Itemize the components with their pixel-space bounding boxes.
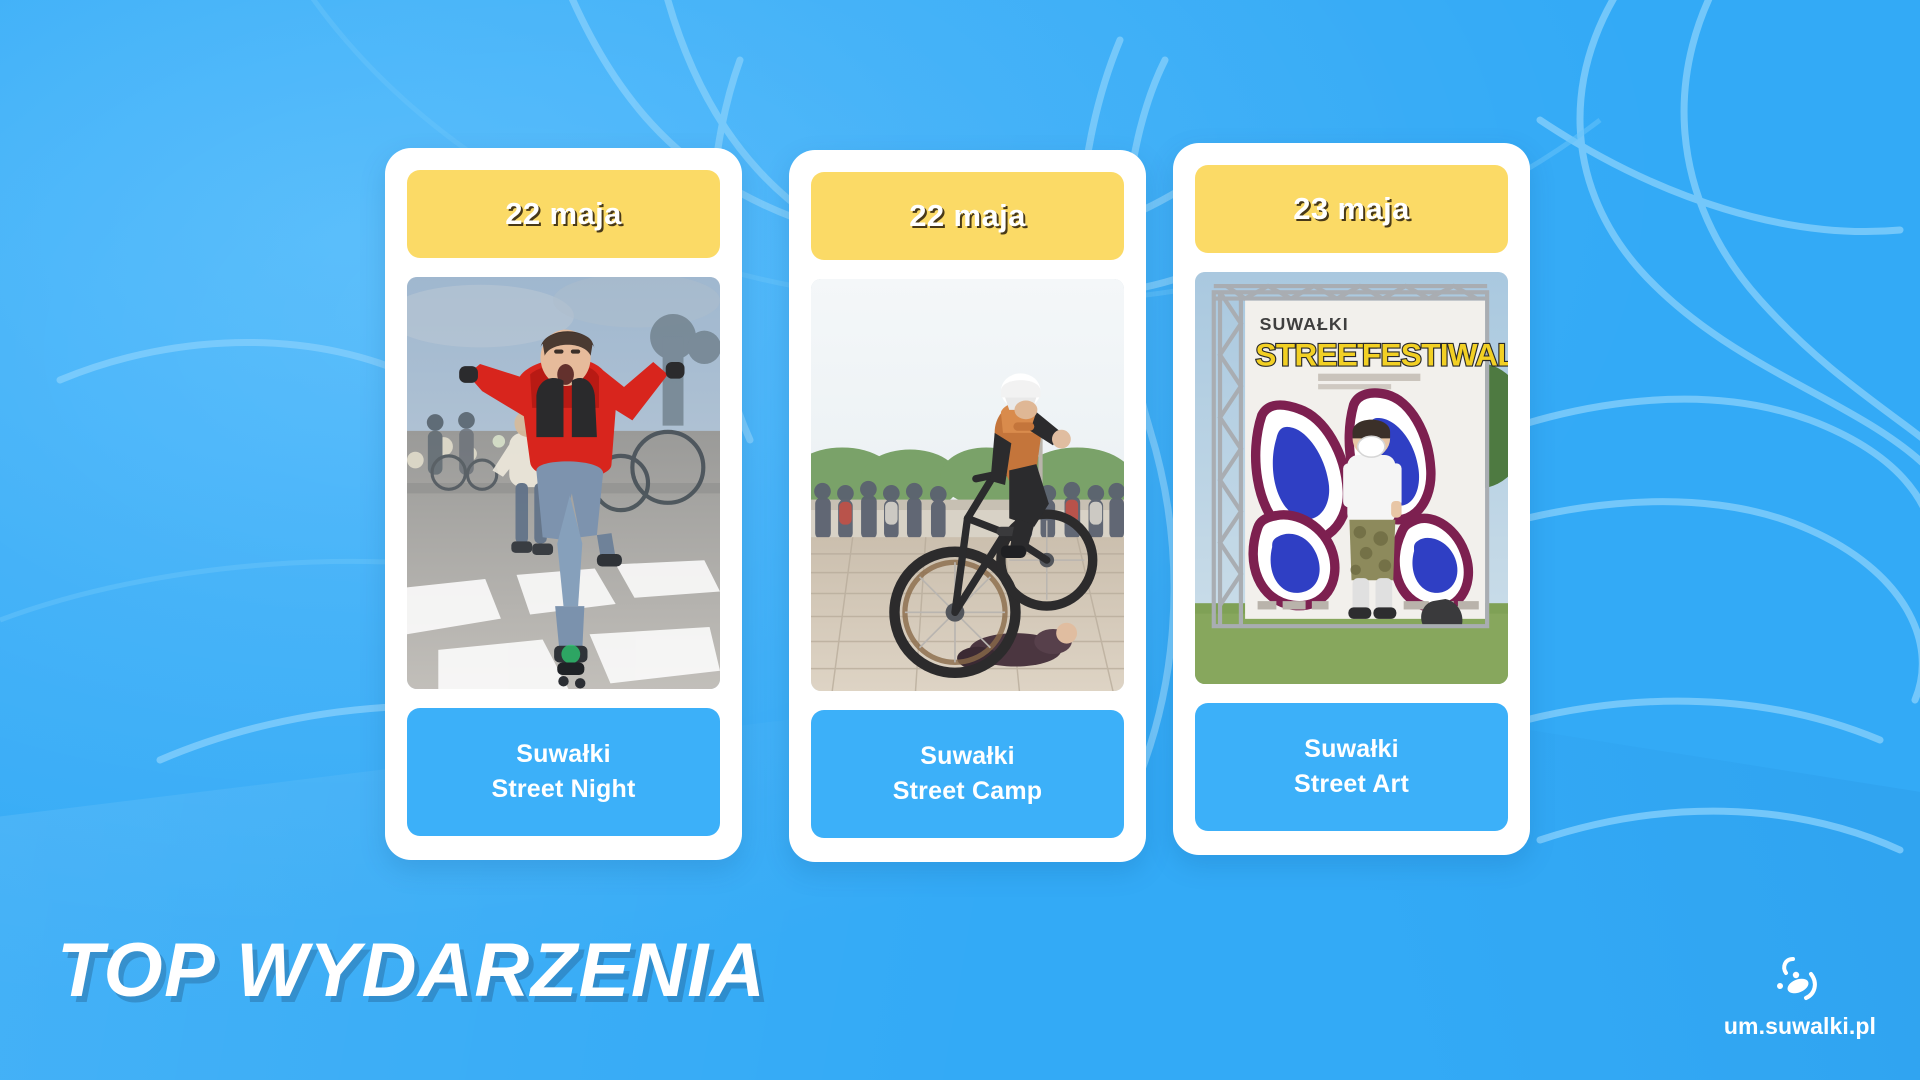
event-title-line2: Street Night xyxy=(491,775,635,805)
event-card-street-camp[interactable]: 22 maja xyxy=(789,150,1146,862)
suwalki-swirl-icon xyxy=(1763,949,1837,1009)
event-photo-bmx-rider xyxy=(811,279,1124,691)
svg-text:SUWAŁKI: SUWAŁKI xyxy=(1260,314,1349,334)
date-badge-label: 22 maja xyxy=(909,198,1026,234)
event-photo-graffiti-wall: SUWAŁKI STREET FESTIWAL xyxy=(1195,272,1508,684)
event-title-line2: Street Camp xyxy=(893,777,1042,807)
event-title-line1: Suwałki xyxy=(516,740,611,770)
date-badge-label: 23 maja xyxy=(1293,191,1410,227)
site-logo[interactable]: um.suwalki.pl xyxy=(1724,949,1876,1040)
svg-text:FESTIWAL: FESTIWAL xyxy=(1362,337,1508,372)
event-name-badge: Suwałki Street Camp xyxy=(811,710,1124,838)
page-title: TOP WYDARZENIA xyxy=(57,927,766,1014)
event-cards-row: 22 maja xyxy=(0,0,1920,1080)
logo-label: um.suwalki.pl xyxy=(1724,1013,1876,1040)
event-title-line1: Suwałki xyxy=(1304,735,1399,765)
event-title-line2: Street Art xyxy=(1294,770,1409,800)
event-photo-rollerblader xyxy=(407,277,720,689)
date-badge-label: 22 maja xyxy=(505,196,622,232)
event-name-badge: Suwałki Street Art xyxy=(1195,703,1508,831)
svg-text:STREET: STREET xyxy=(1256,337,1377,372)
event-name-badge: Suwałki Street Night xyxy=(407,708,720,836)
date-badge: 22 maja xyxy=(811,172,1124,260)
date-badge: 23 maja xyxy=(1195,165,1508,253)
event-card-street-art[interactable]: 23 maja xyxy=(1173,143,1530,855)
date-badge: 22 maja xyxy=(407,170,720,258)
event-title-line1: Suwałki xyxy=(920,742,1015,772)
event-card-street-night[interactable]: 22 maja xyxy=(385,148,742,860)
